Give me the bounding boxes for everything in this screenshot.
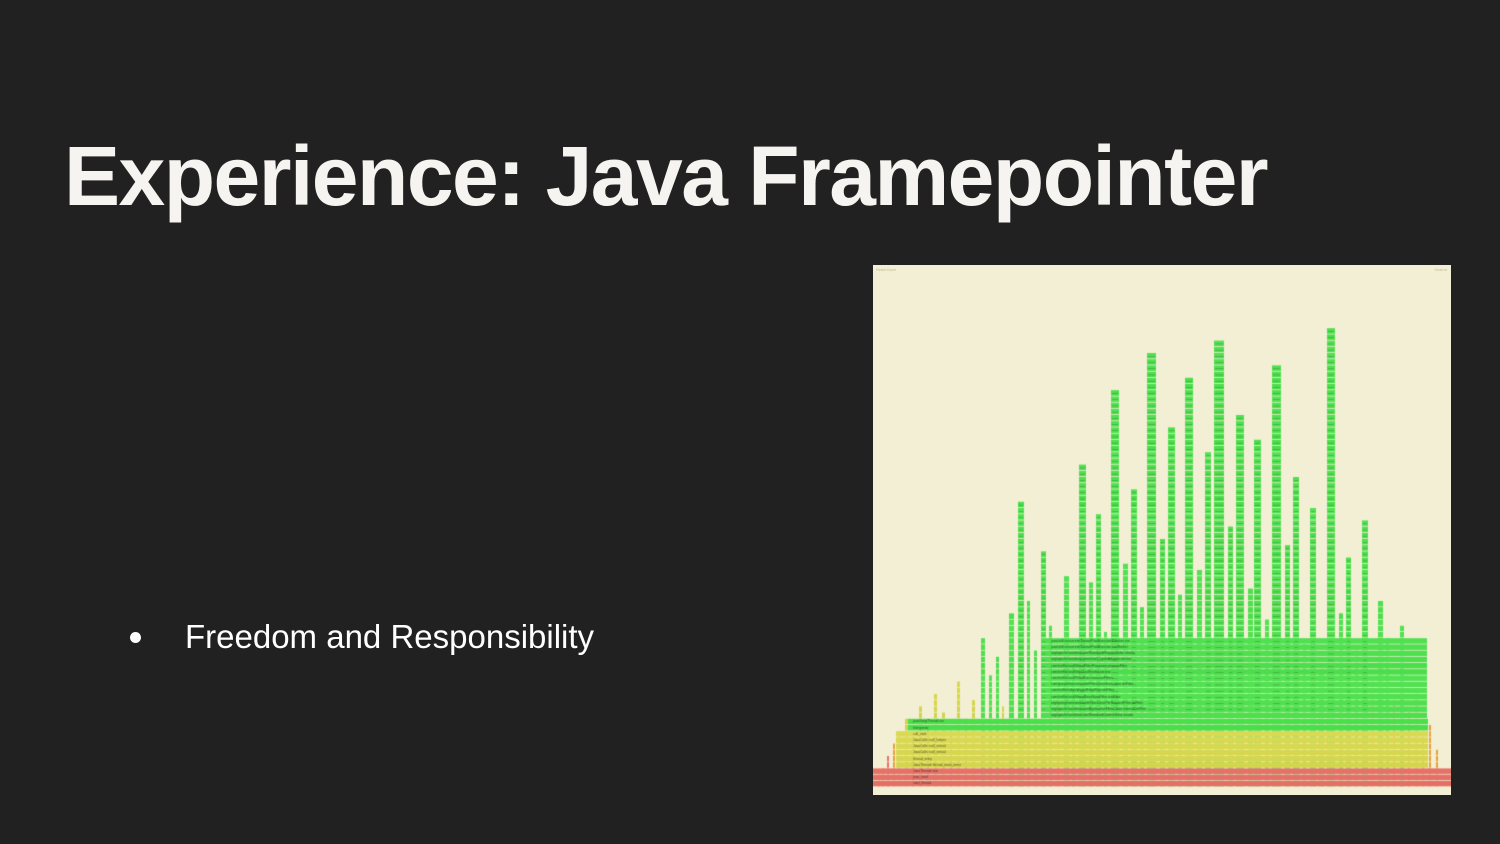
java-flamegraph-figure[interactable]: Reset Zoom Search [873,265,1451,795]
bullet-list: Freedom and Responsibility [120,616,760,659]
list-item: Freedom and Responsibility [120,616,760,659]
slide: Experience: Java Framepointer Freedom an… [0,0,1500,844]
flamegraph-canvas[interactable] [873,265,1451,795]
bullet-item-label: Freedom and Responsibility [185,616,594,659]
page-title: Experience: Java Framepointer [64,132,1424,220]
bullet-dot-icon [130,632,141,643]
